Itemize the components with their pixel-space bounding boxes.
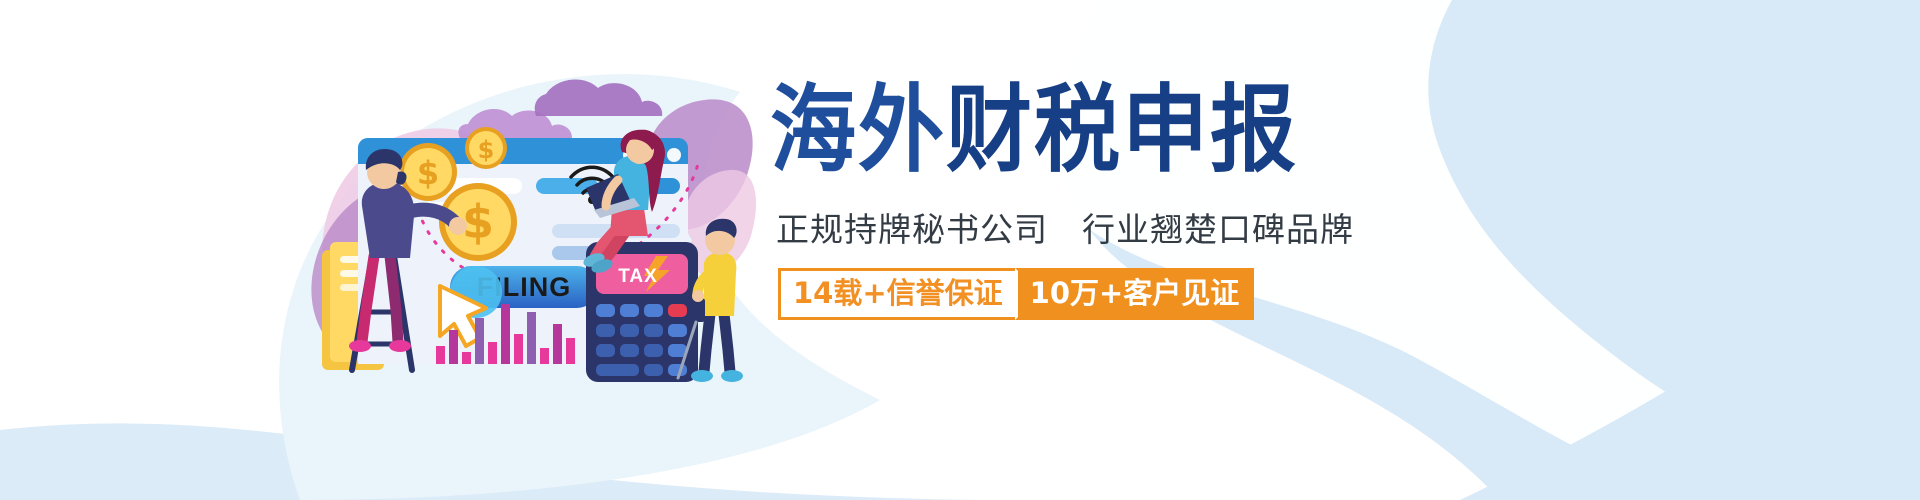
- promo-banner: $ $ $ FILING: [0, 0, 1920, 500]
- coin-symbol: $: [462, 195, 494, 249]
- badge-group: 14载+信誉保证 10万+客户见证: [778, 268, 1254, 320]
- status-badge: 10万+客户见证: [1015, 268, 1255, 320]
- page-title: 海外财税申报: [770, 78, 1298, 184]
- banner-copy: 海外财税申报 正规持牌秘书公司 行业翘楚口碑品牌 14载+信誉保证 10万+客户…: [770, 60, 1530, 420]
- headline-part-1: 海外: [770, 76, 946, 186]
- subtitle: 正规持牌秘书公司 行业翘楚口碑品牌: [776, 210, 1354, 250]
- coin-symbol: $: [417, 154, 439, 192]
- calculator-display-label: TAX: [618, 266, 658, 287]
- headline-part-2: 财税申报: [946, 76, 1298, 186]
- coin-symbol: $: [478, 136, 495, 164]
- coin-icon: $: [465, 127, 507, 169]
- hero-illustration: $ $ $ FILING: [300, 60, 760, 390]
- status-badge: 14载+信誉保证: [778, 268, 1015, 320]
